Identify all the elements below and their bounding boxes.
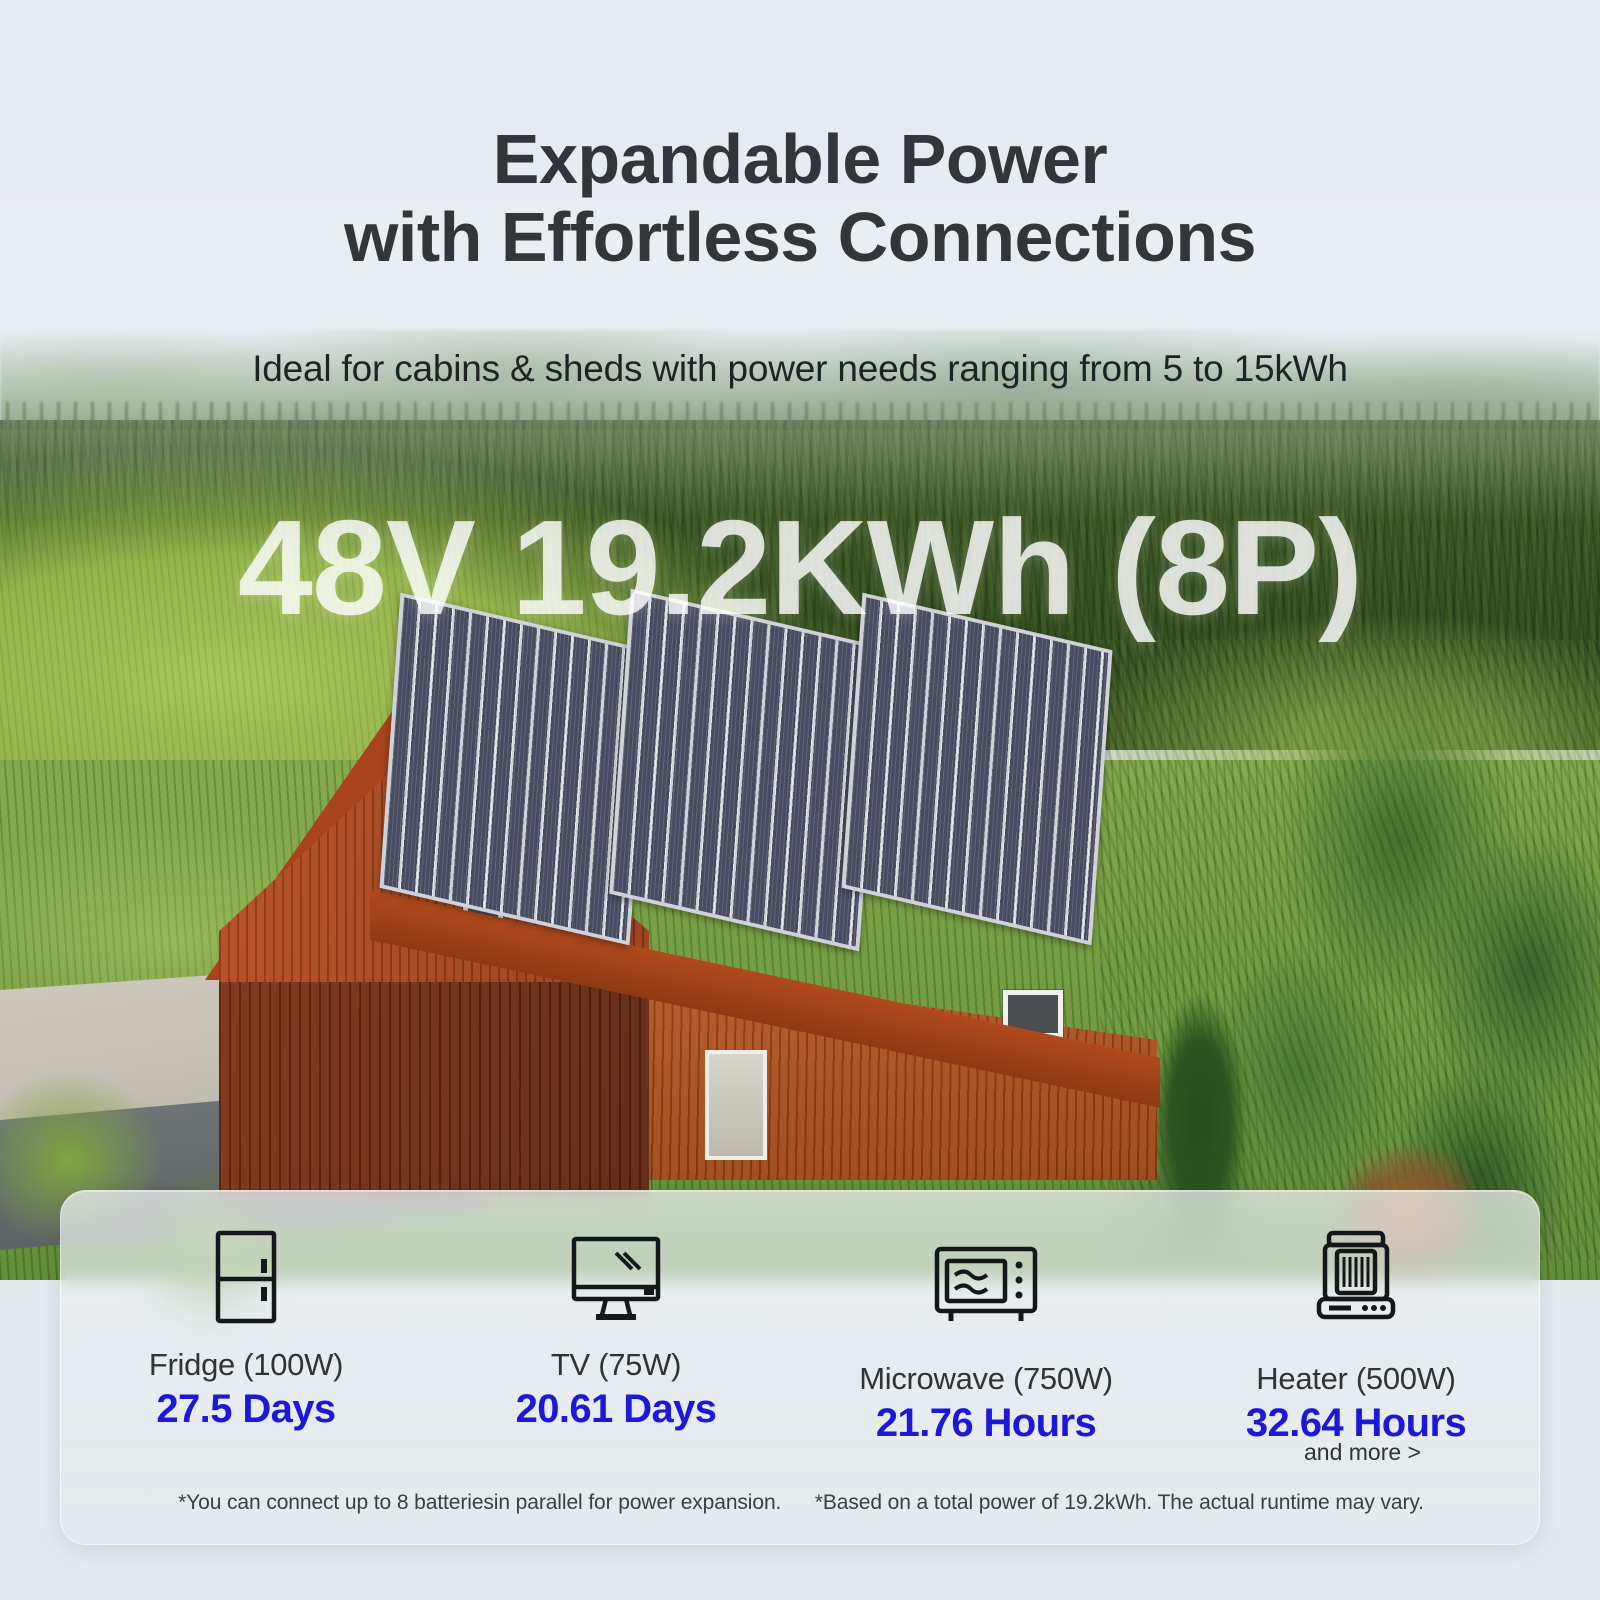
stat-label: Fridge (100W) <box>61 1347 431 1383</box>
runtime-stat-heater[interactable]: Heater (500W) 32.64 Hours <box>1171 1229 1540 1432</box>
barn-front-wall <box>219 982 649 1197</box>
solar-cells <box>613 594 876 947</box>
microwave-icon <box>801 1229 1171 1325</box>
barn-door <box>705 1050 767 1160</box>
solar-cells <box>384 597 646 940</box>
page-subtitle: Ideal for cabins & sheds with power need… <box>0 348 1600 390</box>
runtime-stat-tv[interactable]: TV (75W) 20.61 Days <box>431 1229 801 1432</box>
disclaimer-part-1: *You can connect up to 8 batteriesin par… <box>178 1491 781 1514</box>
runtime-stats-row: Fridge (100W) 27.5 Days TV (75W <box>61 1229 1540 1432</box>
stat-label: Microwave (750W) <box>801 1361 1171 1397</box>
stat-label: Heater (500W) <box>1171 1361 1540 1397</box>
stat-label: TV (75W) <box>431 1347 801 1383</box>
fridge-icon <box>61 1229 431 1325</box>
page-title: Expandable Power with Effortless Connect… <box>0 120 1600 277</box>
product-feature-banner: Expandable Power with Effortless Connect… <box>0 0 1600 1600</box>
runtime-stat-fridge[interactable]: Fridge (100W) 27.5 Days <box>61 1229 431 1432</box>
tv-icon <box>431 1229 801 1325</box>
stat-value: 27.5 Days <box>61 1387 431 1432</box>
solar-array-3 <box>842 593 1113 946</box>
rooftop-solar-arrays <box>370 605 1230 945</box>
stat-value: 21.76 Hours <box>801 1401 1171 1446</box>
disclaimer-part-2: *Based on a total power of 19.2kWh. The … <box>815 1491 1424 1514</box>
headline-line-2: with Effortless Connections <box>0 198 1600 276</box>
runtime-stat-microwave[interactable]: Microwave (750W) 21.76 Hours <box>801 1229 1171 1432</box>
heater-icon <box>1171 1229 1540 1325</box>
runtime-panel: Fridge (100W) 27.5 Days TV (75W <box>60 1190 1540 1545</box>
headline-line-1: Expandable Power <box>493 120 1107 198</box>
solar-cells <box>846 597 1108 940</box>
stat-value: 20.61 Days <box>431 1387 801 1432</box>
and-more-link[interactable]: and more > <box>1304 1439 1421 1466</box>
disclaimer-text: *You can connect up to 8 batteriesin par… <box>61 1491 1540 1515</box>
hero-spec-text: 48V 19.2KWh (8P) <box>0 490 1600 645</box>
